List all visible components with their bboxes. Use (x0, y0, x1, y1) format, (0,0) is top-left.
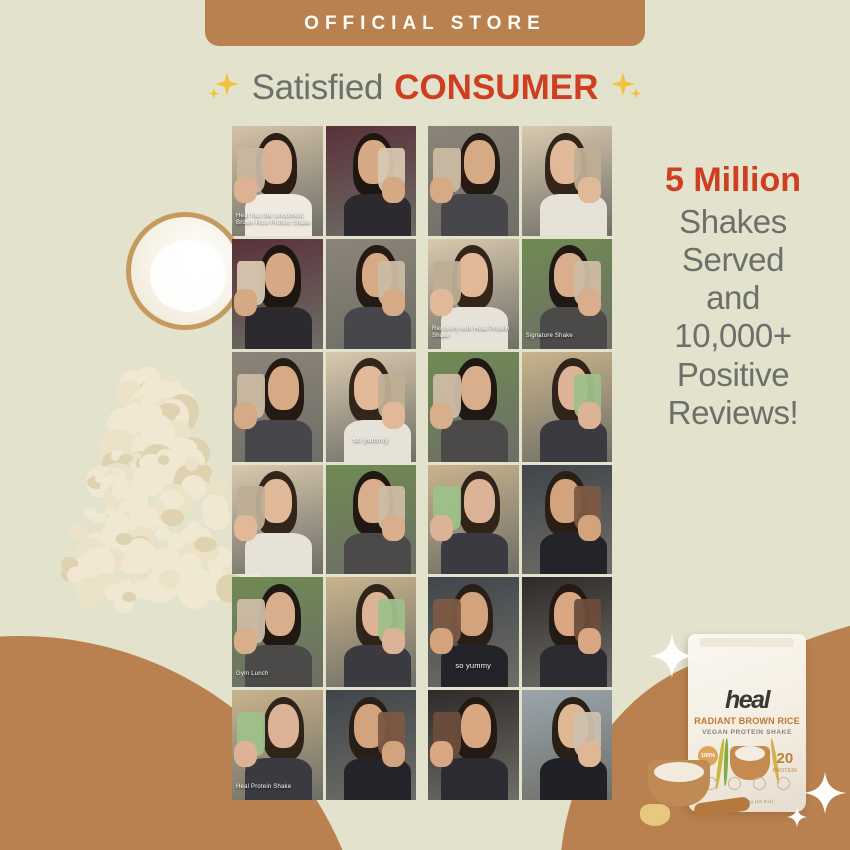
testimonial-photo-tile: Signature Shake (522, 239, 613, 349)
photo-caption: Heal has the smoothest Brown Rice Protei… (234, 213, 317, 227)
official-store-label: OFFICIAL STORE (304, 13, 546, 35)
testimonial-photo-tile (326, 577, 417, 687)
dairy-free-icon (728, 777, 741, 790)
promo-canvas: OFFICIAL STORE Satisfied CONSUMER Heal h… (0, 0, 850, 850)
scoop-head-prop (640, 804, 670, 826)
photo-caption: so yummy (326, 435, 417, 444)
photo-content (428, 690, 519, 800)
photo-caption: so yummy (428, 661, 519, 670)
testimonial-photo-tile (522, 352, 613, 462)
stat-line: Reviews! (620, 394, 846, 432)
photo-caption: Heal Protein Shake (234, 784, 317, 791)
sparkle-icon (786, 806, 808, 833)
testimonial-photo-tile (522, 126, 613, 236)
testimonial-photo-tile (232, 352, 323, 462)
grid-gutter (419, 126, 425, 800)
sparkle-icon (205, 68, 241, 109)
testimonial-photo-tile (326, 465, 417, 575)
testimonial-photo-tile: Gym Lunch (232, 577, 323, 687)
testimonial-photo-tile (428, 352, 519, 462)
stats-block: 5 Million Shakes Served and 10,000+ Posi… (620, 163, 846, 432)
photo-content (428, 352, 519, 462)
testimonial-photo-tile: so yummy (428, 577, 519, 687)
protein-amount-badge: 20 PROTEIN (773, 750, 797, 774)
photo-content (232, 352, 323, 462)
sparkle-icon (609, 68, 645, 109)
gluten-free-icon (753, 777, 766, 790)
protein-unit: PROTEIN (773, 768, 797, 774)
certification-icons (704, 777, 790, 790)
photo-content (522, 352, 613, 462)
stat-line: Shakes (620, 203, 846, 241)
photo-caption: Signature Shake (524, 333, 607, 340)
testimonial-photo-tile: Heal has the smoothest Brown Rice Protei… (232, 126, 323, 236)
photo-content (522, 577, 613, 687)
testimonial-photo-tile (232, 465, 323, 575)
testimonial-photo-tile (522, 577, 613, 687)
testimonial-photo-tile: Heal Protein Shake (232, 690, 323, 800)
product-variant: RADIANT BROWN RICE (688, 716, 806, 726)
page-title-plain: Satisfied (252, 68, 384, 108)
brand-logo: heal (688, 686, 806, 715)
pouch-seal (700, 638, 794, 647)
photo-content (428, 465, 519, 575)
testimonial-photo-grid: Heal has the smoothest Brown Rice Protei… (232, 126, 612, 800)
sparkle-icon (648, 632, 696, 685)
photo-content (232, 239, 323, 349)
stat-line: 10,000+ (620, 317, 846, 355)
testimonial-photo-tile (428, 690, 519, 800)
photo-content (326, 352, 417, 462)
testimonial-photo-tile (232, 239, 323, 349)
testimonial-photo-tile (522, 465, 613, 575)
photo-content (522, 690, 613, 800)
testimonial-photo-tile: Recovery with Heal Protein Shake (428, 239, 519, 349)
photo-content (522, 465, 613, 575)
product-subtitle: VEGAN PROTEIN SHAKE (688, 729, 806, 736)
photo-content (428, 126, 519, 236)
stat-line: Positive (620, 356, 846, 394)
photo-caption: Recovery with Heal Protein Shake (430, 326, 513, 340)
rice-bowl-prop (648, 760, 710, 806)
page-title: Satisfied CONSUMER (0, 62, 850, 114)
protein-powder-pile-image (52, 348, 260, 610)
pouch-rice-illustration (735, 746, 765, 761)
photo-content (326, 126, 417, 236)
photo-content (522, 126, 613, 236)
stat-line: Served (620, 241, 846, 279)
photo-content (326, 690, 417, 800)
page-title-accent: CONSUMER (394, 68, 598, 108)
natural-icon (777, 777, 790, 790)
testimonial-photo-tile (326, 126, 417, 236)
photo-content (326, 239, 417, 349)
photo-content (326, 465, 417, 575)
photo-content (326, 577, 417, 687)
testimonial-photo-tile (522, 690, 613, 800)
testimonial-photo-tile (326, 239, 417, 349)
sparkle-icon (802, 770, 848, 821)
protein-amount: 20 (776, 750, 793, 767)
photo-content (232, 465, 323, 575)
protein-bowl-swirl (150, 240, 226, 312)
stat-highlight: 5 Million (620, 163, 846, 199)
photo-caption: Gym Lunch (234, 671, 317, 678)
testimonial-photo-tile (428, 126, 519, 236)
photo-content (428, 577, 519, 687)
official-store-banner: OFFICIAL STORE (205, 0, 645, 46)
stat-line: and (620, 279, 846, 317)
testimonial-photo-tile: so yummy (326, 352, 417, 462)
testimonial-photo-tile (428, 465, 519, 575)
testimonial-photo-tile (326, 690, 417, 800)
